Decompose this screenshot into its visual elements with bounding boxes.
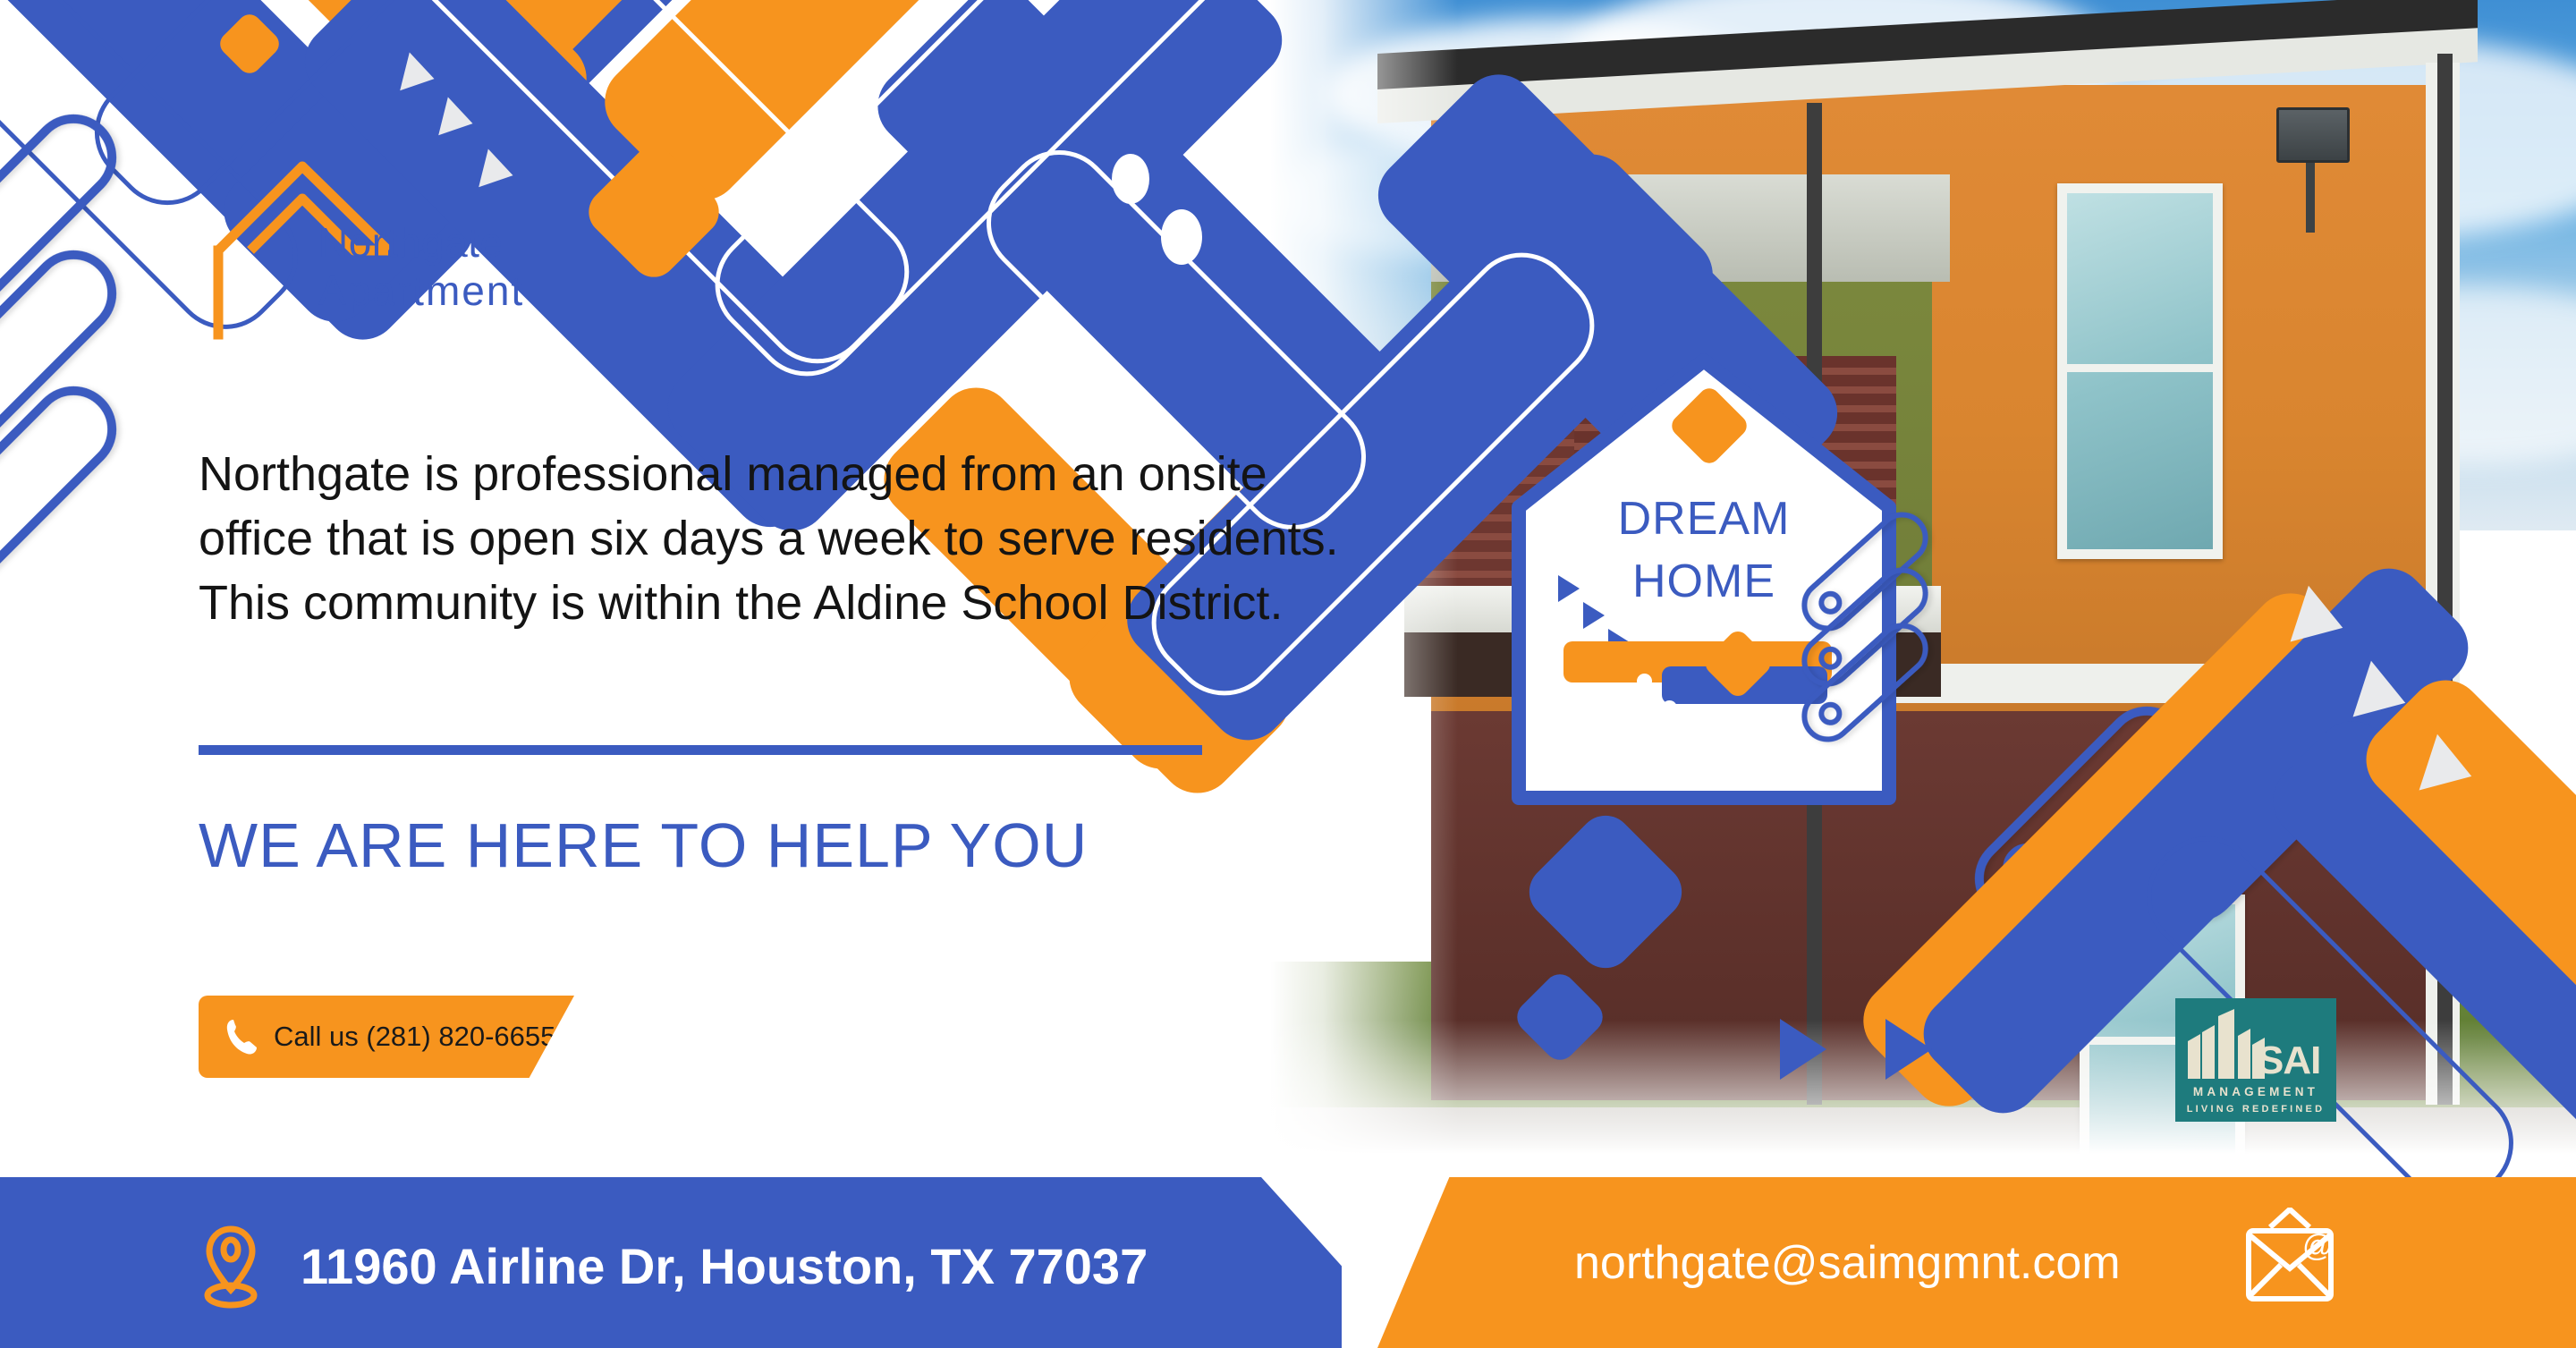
exterior-light-icon [2276, 107, 2350, 163]
chevron-band-orange [589, 0, 1146, 216]
svg-text:@: @ [2302, 1229, 2334, 1263]
building-photo [1270, 0, 2576, 1154]
headline: WE ARE HERE TO HELP YOU [199, 810, 1088, 881]
body-paragraph: Northgate is professional managed from a… [199, 443, 1352, 635]
footer-address[interactable]: 11960 Airline Dr, Houston, TX 77037 [301, 1237, 1148, 1295]
logo-line-1: Northgate [318, 218, 524, 267]
photo-bottom-fade [1270, 1020, 2576, 1154]
light-mount [2306, 163, 2315, 233]
porch-ceiling [1431, 174, 1950, 282]
diamond-orange [580, 138, 729, 287]
upper-window [2057, 183, 2223, 559]
triangle-marker [1558, 575, 1580, 602]
sai-name: SAI [2258, 1041, 2320, 1081]
badge-dot [1637, 674, 1652, 689]
sai-management-logo: SAI MANAGEMENT LIVING REDEFINED [2175, 998, 2336, 1122]
capsule-circle [1814, 697, 1847, 730]
footer-email[interactable]: northgate@saimgmnt.com [1574, 1236, 2121, 1290]
northgate-logo[interactable]: Northgate Apartment [204, 134, 526, 340]
badge-dot [1662, 700, 1677, 716]
downspout [2437, 54, 2453, 1105]
capsule-outline [0, 97, 134, 347]
map-pin-icon [199, 1224, 263, 1310]
call-us-button[interactable]: Call us (281) 820-6655 [199, 996, 574, 1078]
diamond-orange [216, 10, 284, 78]
triangle-marker [1583, 602, 1605, 629]
sai-tagline: LIVING REDEFINED [2175, 1104, 2336, 1115]
badge-line-1: DREAM [1512, 487, 1896, 550]
buildings-icon [2188, 1005, 2268, 1079]
capsule-outline [0, 369, 134, 619]
band-hole [1112, 154, 1149, 204]
logo-wordmark: Northgate Apartment [318, 218, 524, 316]
divider-rule [199, 745, 1202, 755]
logo-line-2: Apartment [318, 267, 524, 315]
phone-icon [224, 1016, 259, 1057]
band-hole [1161, 209, 1202, 265]
banner-canvas: DREAM HOME Northgate Apar [0, 0, 2576, 1348]
call-us-label: Call us (281) 820-6655 [274, 1021, 555, 1053]
sai-management-word: MANAGEMENT [2175, 1085, 2336, 1098]
envelope-at-icon: @ [2236, 1208, 2343, 1313]
white-outline-trace [693, 0, 1275, 398]
triangle-marker [400, 53, 439, 98]
capsule-outline [0, 233, 134, 483]
